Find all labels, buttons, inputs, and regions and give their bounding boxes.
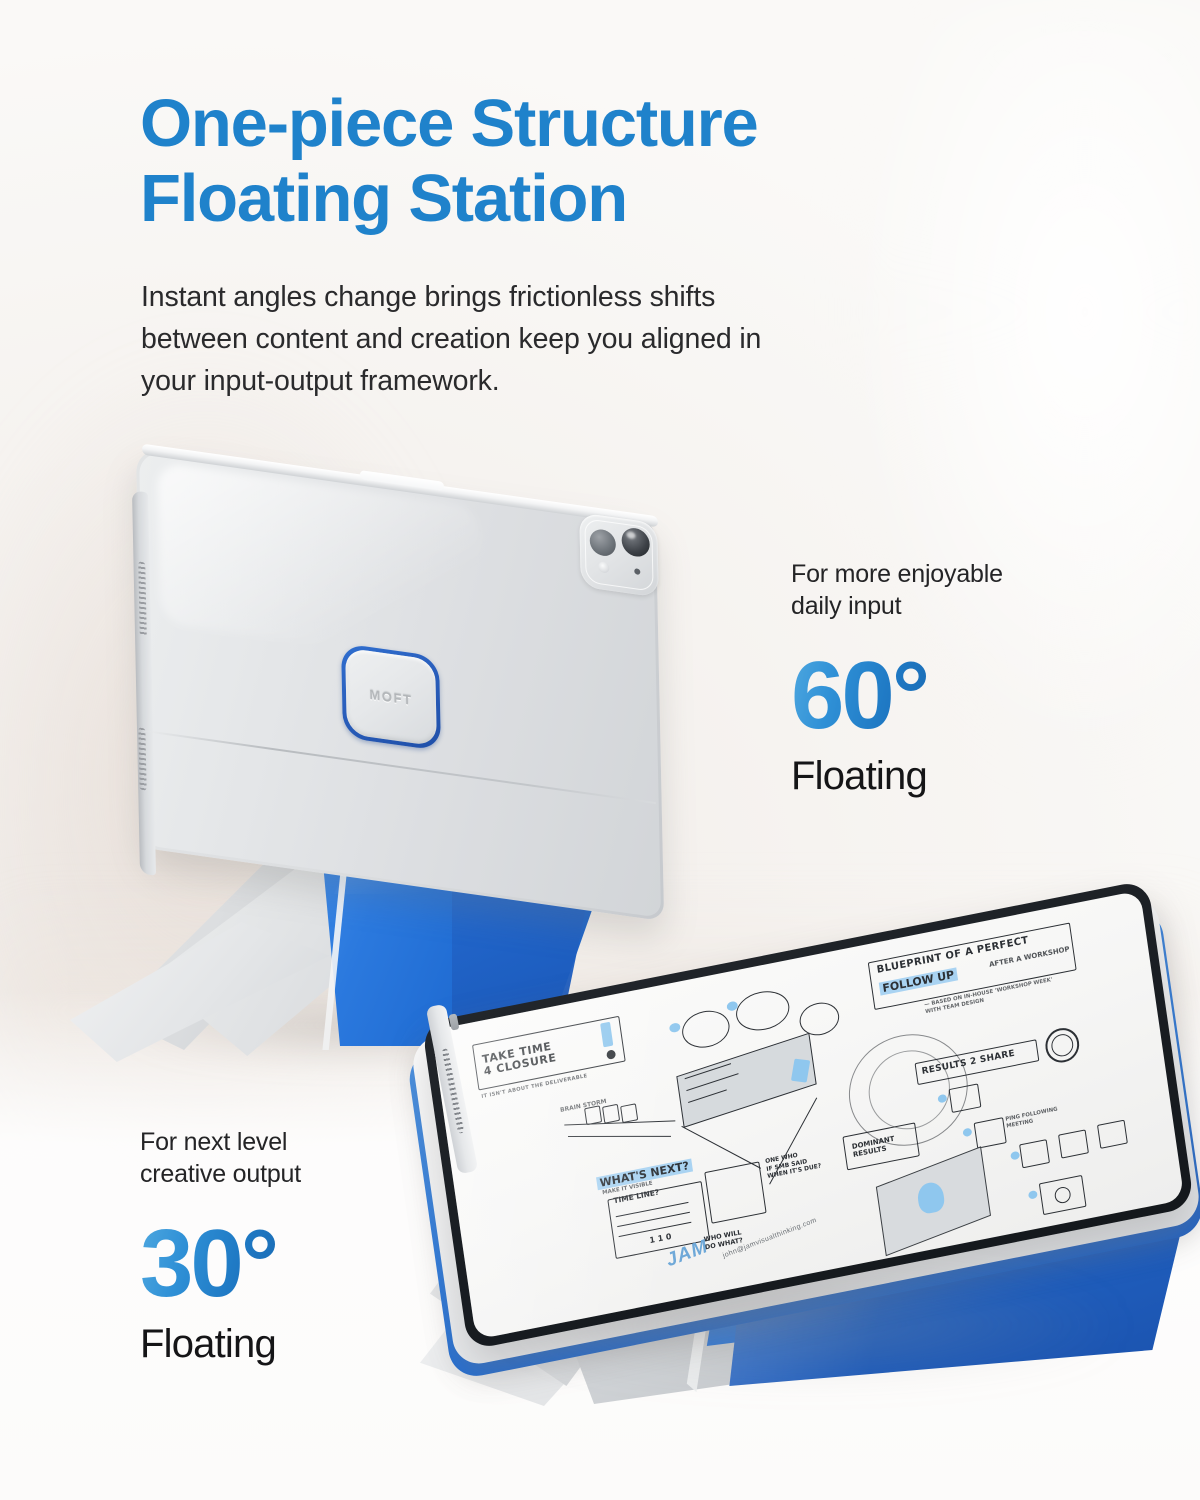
sketch-card-r4 — [1058, 1129, 1089, 1158]
callout-60-mode-label: Floating — [791, 756, 1003, 796]
sketch-next-arrow-box — [704, 1161, 766, 1223]
page-title: One-piece Structure Floating Station — [140, 86, 758, 236]
sketch-flow-card-b — [602, 1104, 620, 1124]
camera-mic-icon — [634, 568, 640, 575]
callout-60-degrees: For more enjoyable daily input 60° Float… — [791, 558, 1003, 796]
camera-module — [579, 512, 659, 597]
sketch-marker-r2 — [962, 1128, 972, 1138]
sketch-bubble-a — [680, 1007, 732, 1052]
upper-speaker-grille-bottom — [138, 727, 146, 790]
sketch-owner-label: ONE WHO IF SMB SAID WHEN IT'S DUE? — [765, 1148, 822, 1181]
sketch-flow-line-2 — [568, 1136, 671, 1138]
pad-face: MOFT — [345, 648, 437, 747]
callout-30-lead: For next level creative output — [140, 1126, 301, 1190]
sketch-bubble-marker-a — [669, 1022, 681, 1033]
moft-logo: MOFT — [369, 686, 413, 707]
camera-flash-icon — [598, 561, 609, 574]
sketch-card-r5 — [1097, 1120, 1128, 1149]
callout-30-mode-label: Floating — [140, 1324, 301, 1364]
sketch-flow-line-1 — [564, 1120, 675, 1126]
moft-magnetic-pad: MOFT — [341, 643, 441, 751]
camera-lens-icon-wide — [590, 528, 617, 558]
page-subtitle: Instant angles change brings frictionles… — [141, 277, 761, 403]
sketch-card-r2 — [974, 1117, 1007, 1149]
sketch-marker-r3 — [1010, 1151, 1020, 1161]
camera-lens-icon-main — [621, 526, 650, 558]
callout-30-degrees: For next level creative output 30° Float… — [140, 1126, 301, 1364]
sketch-bubble-c — [797, 999, 841, 1038]
sketch-flow-card-a — [584, 1105, 602, 1125]
sketch-flow-card-c — [620, 1103, 638, 1123]
callout-60-lead: For more enjoyable daily input — [791, 558, 1003, 622]
product-lower-tablet: TAKE TIME 4 CLOSURE IT ISN'T ABOUT THE D… — [420, 940, 1200, 1500]
sketch-title-text: TAKE TIME 4 CLOSURE — [481, 1028, 616, 1078]
sketch-marker-r4 — [1028, 1190, 1038, 1200]
callout-30-angle-value: 30° — [140, 1216, 276, 1312]
sketch-ping-label: PING FOLLOWING MEETING — [1005, 1106, 1059, 1130]
sketch-card-r3 — [1019, 1139, 1050, 1168]
sketch-bubble-b — [734, 987, 792, 1035]
callout-60-angle-value: 60° — [791, 648, 927, 744]
